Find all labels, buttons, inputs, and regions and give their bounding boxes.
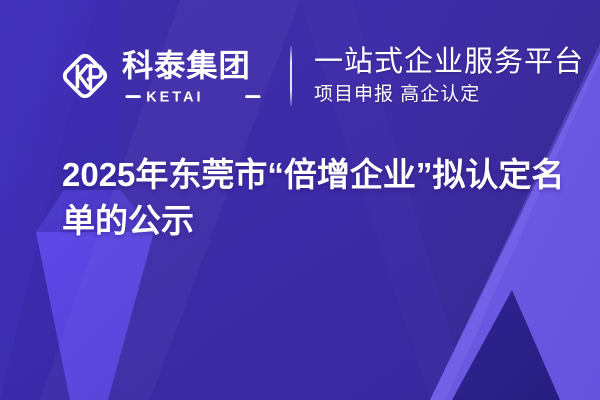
slogan-block: 一站式企业服务平台 项目申报 高企认定 xyxy=(314,45,584,107)
slogan-main: 一站式企业服务平台 xyxy=(314,45,584,79)
brand-block: 科泰集团 KETAI xyxy=(122,45,264,107)
page-title: 2025年东莞市“倍增企业”拟认定名单的公示 xyxy=(62,152,582,244)
promo-banner: 科泰集团 KETAI 一站式企业服务平台 项目申报 高企认定 2025年东莞市“… xyxy=(0,0,600,400)
logo-slogan-divider xyxy=(290,46,292,106)
brand-name-en: KETAI xyxy=(122,87,264,105)
svg-text:KETAI: KETAI xyxy=(146,89,203,105)
ketai-diamond-kp-mark-icon xyxy=(58,49,112,103)
logo-row: 科泰集团 KETAI 一站式企业服务平台 项目申报 高企认定 xyxy=(58,40,584,112)
brand-name-cn: 科泰集团 xyxy=(122,48,264,84)
banner-content: 科泰集团 KETAI 一站式企业服务平台 项目申报 高企认定 2025年东莞市“… xyxy=(0,0,600,400)
svg-text:科泰集团: 科泰集团 xyxy=(122,48,251,83)
slogan-sub: 项目申报 高企认定 xyxy=(314,83,584,107)
